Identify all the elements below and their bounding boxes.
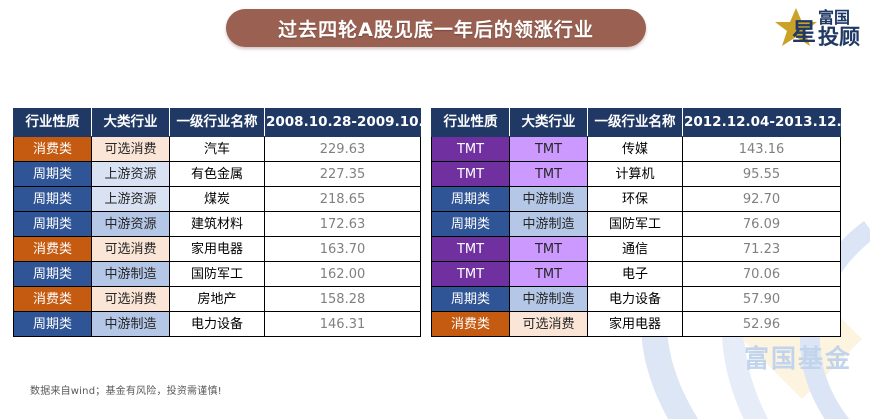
page-title: 过去四轮A股见底一年后的领涨行业 [278, 15, 594, 42]
cell-industry-nature: 消费类 [432, 312, 510, 337]
table-row: TMTTMT计算机95.55 [432, 162, 841, 187]
watermark-text: 富国基金 [744, 339, 852, 375]
cell-industry-name: 环保 [588, 187, 683, 212]
column-header-2: 大类行业 [510, 109, 588, 137]
cell-industry-nature: 周期类 [432, 187, 510, 212]
cell-return-value: 57.90 [683, 287, 841, 312]
cell-return-value: 52.96 [683, 312, 841, 337]
table-row: 消费类可选消费房地产158.28 [14, 287, 421, 312]
cell-return-value: 229.63 [265, 137, 421, 162]
table-row: TMTTMT电子70.06 [432, 262, 841, 287]
cell-industry-name: 房地产 [170, 287, 265, 312]
table-body-left: 消费类可选消费汽车229.63周期类上游资源有色金属227.35周期类上游资源煤… [14, 137, 421, 337]
cell-industry-name: 电力设备 [170, 312, 265, 337]
cell-return-value: 95.55 [683, 162, 841, 187]
table-row: 消费类可选消费汽车229.63 [14, 137, 421, 162]
table-header-left: 行业性质大类行业一级行业名称2008.10.28-2009.10.28 [14, 109, 421, 137]
table-row: 消费类可选消费家用电器52.96 [432, 312, 841, 337]
cell-return-value: 146.31 [265, 312, 421, 337]
cell-sector-group: 中游制造 [510, 212, 588, 237]
cell-return-value: 158.28 [265, 287, 421, 312]
cell-industry-nature: 周期类 [432, 212, 510, 237]
cell-sector-group: TMT [510, 262, 588, 287]
cell-return-value: 71.23 [683, 237, 841, 262]
cell-industry-nature: 消费类 [14, 137, 92, 162]
table-row: 周期类中游制造电力设备57.90 [432, 287, 841, 312]
cell-industry-nature: 周期类 [14, 187, 92, 212]
cell-industry-nature: 周期类 [14, 162, 92, 187]
cell-sector-group: 中游制造 [92, 262, 170, 287]
table-row: 周期类中游制造电力设备146.31 [14, 312, 421, 337]
cell-industry-name: 电子 [588, 262, 683, 287]
cell-sector-group: 中游制造 [92, 312, 170, 337]
table-row: TMTTMT通信71.23 [432, 237, 841, 262]
table-row: 周期类中游资源建筑材料172.63 [14, 212, 421, 237]
cell-return-value: 172.63 [265, 212, 421, 237]
cell-industry-name: 家用电器 [170, 237, 265, 262]
table-2012-2013: 行业性质大类行业一级行业名称2012.12.04-2013.12.04 TMTT… [431, 108, 841, 337]
cell-return-value: 227.35 [265, 162, 421, 187]
cell-sector-group: TMT [510, 137, 588, 162]
cell-industry-nature: 周期类 [432, 287, 510, 312]
cell-sector-group: 上游资源 [92, 162, 170, 187]
cell-return-value: 218.65 [265, 187, 421, 212]
cell-sector-group: TMT [510, 162, 588, 187]
cell-return-value: 143.16 [683, 137, 841, 162]
slide-canvas: 富国基金 过去四轮A股见底一年后的领涨行业 星 富国 投顾 行业性质大类行业一级… [0, 0, 870, 419]
cell-sector-group: 可选消费 [92, 237, 170, 262]
logo-brand-bottom: 投顾 [818, 25, 860, 49]
column-header-4: 2012.12.04-2013.12.04 [683, 109, 841, 137]
title-banner: 过去四轮A股见底一年后的领涨行业 [226, 9, 646, 47]
table-header-right: 行业性质大类行业一级行业名称2012.12.04-2013.12.04 [432, 109, 841, 137]
logo-star-char: 星 [792, 18, 816, 46]
table-2008-2009: 行业性质大类行业一级行业名称2008.10.28-2009.10.28 消费类可… [13, 108, 421, 337]
cell-industry-nature: 周期类 [14, 312, 92, 337]
cell-industry-name: 汽车 [170, 137, 265, 162]
brand-logo: 星 富国 投顾 [774, 4, 860, 50]
cell-industry-name: 通信 [588, 237, 683, 262]
cell-sector-group: 可选消费 [510, 312, 588, 337]
cell-sector-group: 中游制造 [510, 287, 588, 312]
cell-sector-group: 可选消费 [92, 287, 170, 312]
cell-sector-group: TMT [510, 237, 588, 262]
cell-industry-nature: 消费类 [14, 237, 92, 262]
cell-industry-name: 家用电器 [588, 312, 683, 337]
table-row: TMTTMT传媒143.16 [432, 137, 841, 162]
cell-sector-group: 上游资源 [92, 187, 170, 212]
table-row: 周期类中游制造国防军工162.00 [14, 262, 421, 287]
table-row: 周期类上游资源煤炭218.65 [14, 187, 421, 212]
cell-return-value: 162.00 [265, 262, 421, 287]
cell-industry-nature: TMT [432, 237, 510, 262]
cell-industry-name: 国防军工 [170, 262, 265, 287]
cell-return-value: 163.70 [265, 237, 421, 262]
footer-disclaimer: 数据来自wind；基金有风险，投资需谨慎! [30, 382, 222, 397]
table-row: 周期类上游资源有色金属227.35 [14, 162, 421, 187]
cell-industry-name: 电力设备 [588, 287, 683, 312]
cell-industry-name: 计算机 [588, 162, 683, 187]
table-body-right: TMTTMT传媒143.16TMTTMT计算机95.55周期类中游制造环保92.… [432, 137, 841, 337]
cell-industry-nature: TMT [432, 162, 510, 187]
table-row: 周期类中游制造环保92.70 [432, 187, 841, 212]
cell-industry-nature: 周期类 [14, 212, 92, 237]
cell-industry-name: 煤炭 [170, 187, 265, 212]
column-header-2: 大类行业 [92, 109, 170, 137]
cell-industry-nature: TMT [432, 137, 510, 162]
header-row: 行业性质大类行业一级行业名称2012.12.04-2013.12.04 [432, 109, 841, 137]
cell-sector-group: 中游资源 [92, 212, 170, 237]
column-header-4: 2008.10.28-2009.10.28 [265, 109, 421, 137]
cell-return-value: 76.09 [683, 212, 841, 237]
column-header-3: 一级行业名称 [170, 109, 265, 137]
cell-industry-name: 有色金属 [170, 162, 265, 187]
cell-industry-nature: 消费类 [14, 287, 92, 312]
cell-industry-nature: 周期类 [14, 262, 92, 287]
header-row: 行业性质大类行业一级行业名称2008.10.28-2009.10.28 [14, 109, 421, 137]
column-header-3: 一级行业名称 [588, 109, 683, 137]
cell-industry-name: 国防军工 [588, 212, 683, 237]
column-header-1: 行业性质 [432, 109, 510, 137]
cell-sector-group: 中游制造 [510, 187, 588, 212]
cell-industry-nature: TMT [432, 262, 510, 287]
table-row: 周期类中游制造国防军工76.09 [432, 212, 841, 237]
cell-return-value: 92.70 [683, 187, 841, 212]
cell-sector-group: 可选消费 [92, 137, 170, 162]
cell-industry-name: 传媒 [588, 137, 683, 162]
cell-industry-name: 建筑材料 [170, 212, 265, 237]
table-row: 消费类可选消费家用电器163.70 [14, 237, 421, 262]
cell-return-value: 70.06 [683, 262, 841, 287]
column-header-1: 行业性质 [14, 109, 92, 137]
